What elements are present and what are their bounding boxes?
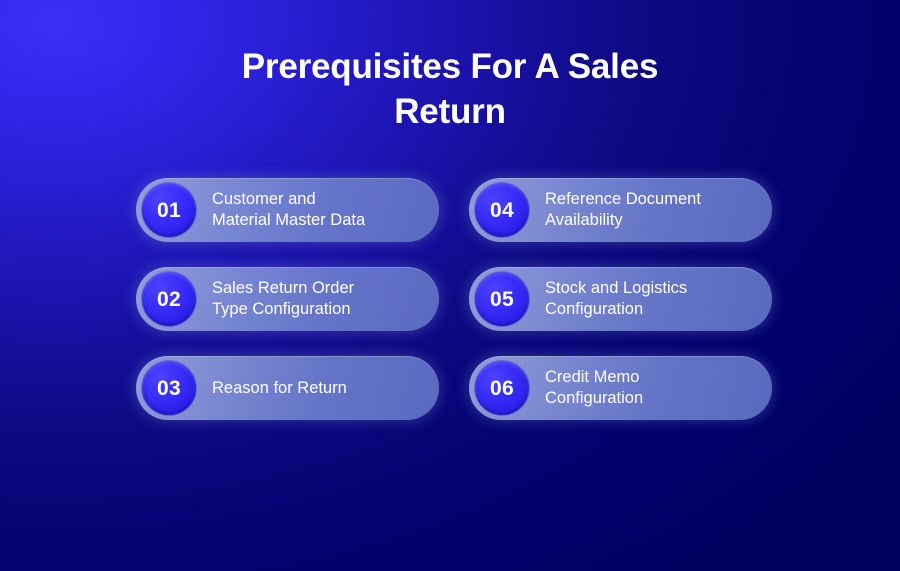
number-badge-02: 02 [142,272,196,326]
number-badge-01: 01 [142,183,196,237]
number-badge-03: 03 [142,361,196,415]
title-block: Prerequisites For A Sales Return [0,44,900,134]
infographic-canvas: Prerequisites For A Sales Return 01 Cust… [0,0,900,571]
number-badge-label: 03 [157,378,181,399]
number-badge-label: 05 [490,289,514,310]
prerequisite-item-04: 04 Reference Document Availability [469,178,772,242]
page-title-line-1: Prerequisites For A Sales [0,44,900,89]
page-title: Prerequisites For A Sales Return [0,44,900,134]
prerequisite-item-05: 05 Stock and Logistics Configuration [469,267,772,331]
page-title-line-2: Return [0,89,900,134]
number-badge-04: 04 [475,183,529,237]
prerequisite-label: Reference Document Availability [545,189,711,231]
number-badge-label: 06 [490,378,514,399]
prerequisite-item-01: 01 Customer and Material Master Data [136,178,439,242]
number-badge-06: 06 [475,361,529,415]
number-badge-label: 02 [157,289,181,310]
number-badge-05: 05 [475,272,529,326]
prerequisites-list: 01 Customer and Material Master Data 04 … [136,178,772,420]
prerequisite-item-03: 03 Reason for Return [136,356,439,420]
prerequisite-label: Sales Return Order Type Configuration [212,278,364,320]
prerequisite-label: Credit Memo Configuration [545,367,653,409]
number-badge-label: 04 [490,200,514,221]
prerequisite-label: Stock and Logistics Configuration [545,278,697,320]
prerequisite-item-02: 02 Sales Return Order Type Configuration [136,267,439,331]
prerequisite-label: Customer and Material Master Data [212,189,375,231]
prerequisite-label: Reason for Return [212,378,357,399]
number-badge-label: 01 [157,200,181,221]
prerequisite-item-06: 06 Credit Memo Configuration [469,356,772,420]
